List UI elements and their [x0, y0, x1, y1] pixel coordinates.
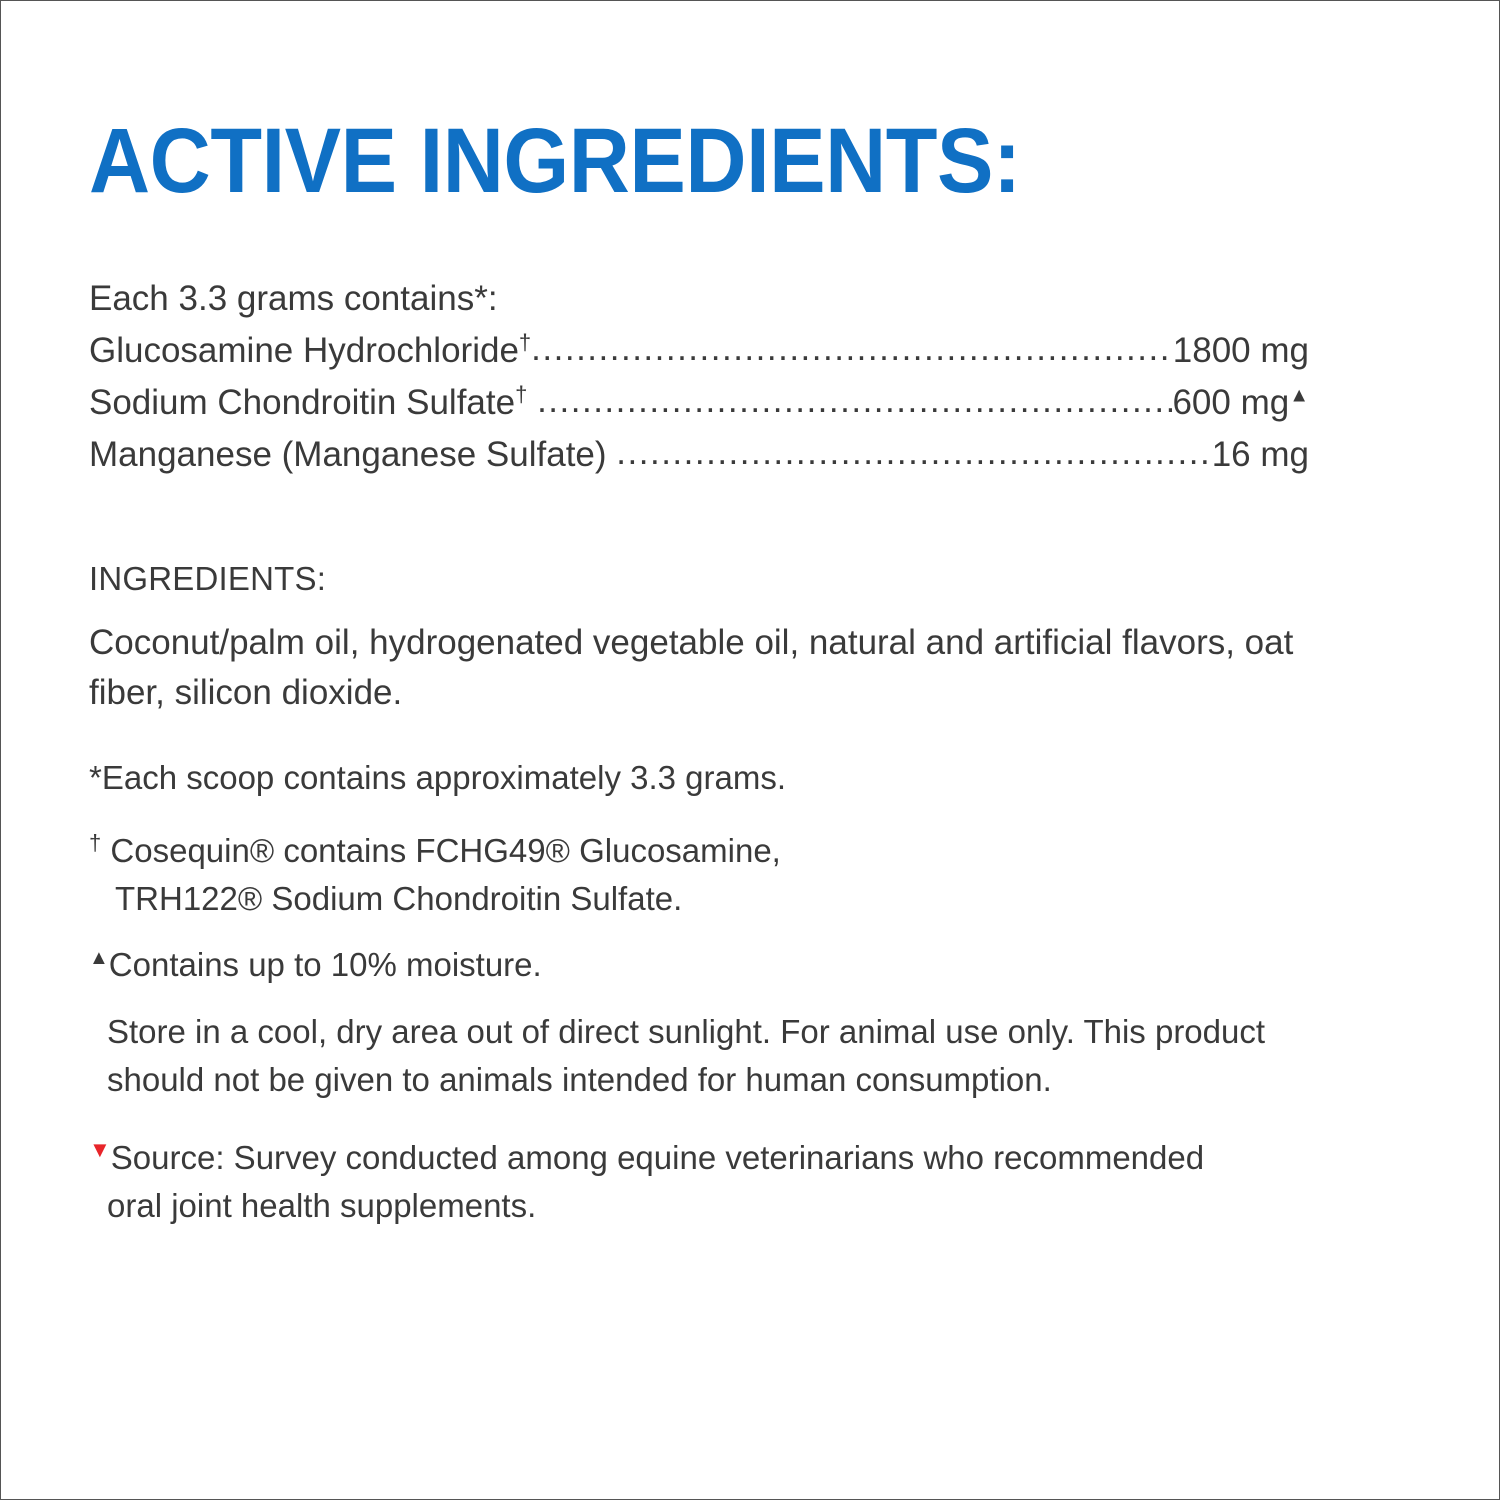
- footnote-scoop: *Each scoop contains approximately 3.3 g…: [89, 754, 1289, 802]
- ingredients-body: Coconut/palm oil, hydrogenated vegetable…: [89, 618, 1349, 718]
- footnote-dagger: † Cosequin® contains FCHG49® Glucosamine…: [89, 827, 1289, 923]
- footnote-moisture: ▲Contains up to 10% moisture.: [89, 941, 1289, 989]
- triangle-marker: ▲: [1289, 384, 1309, 406]
- triangle-up-icon: ▲: [89, 947, 109, 969]
- footnote-moisture-text: Contains up to 10% moisture.: [109, 946, 542, 983]
- label-page: ACTIVE INGREDIENTS: Each 3.3 grams conta…: [0, 0, 1500, 1500]
- table-row: Manganese (Manganese Sulfate) ..........…: [89, 429, 1309, 481]
- table-row: Sodium Chondroitin Sulfate† ............…: [89, 377, 1309, 429]
- footnote-dagger-line1: Cosequin® contains FCHG49® Glucosamine,: [101, 832, 781, 869]
- ingredient-name: Glucosamine Hydrochloride†: [89, 325, 531, 377]
- leader-dots: ........................................…: [616, 427, 1211, 479]
- page-title: ACTIVE INGREDIENTS:: [89, 113, 1021, 209]
- dagger-marker: †: [515, 381, 527, 406]
- table-row: Glucosamine Hydrochloride† .............…: [89, 325, 1309, 377]
- dagger-icon: †: [89, 830, 101, 855]
- footnote-source-line1: Source: Survey conducted among equine ve…: [111, 1139, 1204, 1176]
- dagger-marker: †: [519, 329, 531, 354]
- footnote-dagger-line2: TRH122® Sodium Chondroitin Sulfate.: [89, 875, 1289, 923]
- active-ingredients-intro: Each 3.3 grams contains*:: [89, 273, 1309, 325]
- ingredients-heading: INGREDIENTS:: [89, 559, 326, 599]
- leader-dots: ........................................…: [537, 375, 1172, 427]
- leader-dots: ........................................…: [531, 323, 1173, 375]
- ingredient-value: 1800 mg: [1173, 325, 1309, 377]
- footnote-source-line2: oral joint health supplements.: [89, 1182, 1309, 1230]
- triangle-down-red-icon: ▼: [89, 1137, 111, 1162]
- active-ingredients-block: Each 3.3 grams contains*: Glucosamine Hy…: [89, 273, 1309, 481]
- footnote-source: ▼Source: Survey conducted among equine v…: [89, 1134, 1309, 1230]
- ingredient-value: 600 mg▲: [1172, 377, 1309, 429]
- footnote-storage: Store in a cool, dry area out of direct …: [107, 1008, 1367, 1104]
- ingredient-value: 16 mg: [1212, 429, 1309, 481]
- ingredient-name: Sodium Chondroitin Sulfate†: [89, 377, 537, 429]
- ingredient-name: Manganese (Manganese Sulfate): [89, 429, 616, 481]
